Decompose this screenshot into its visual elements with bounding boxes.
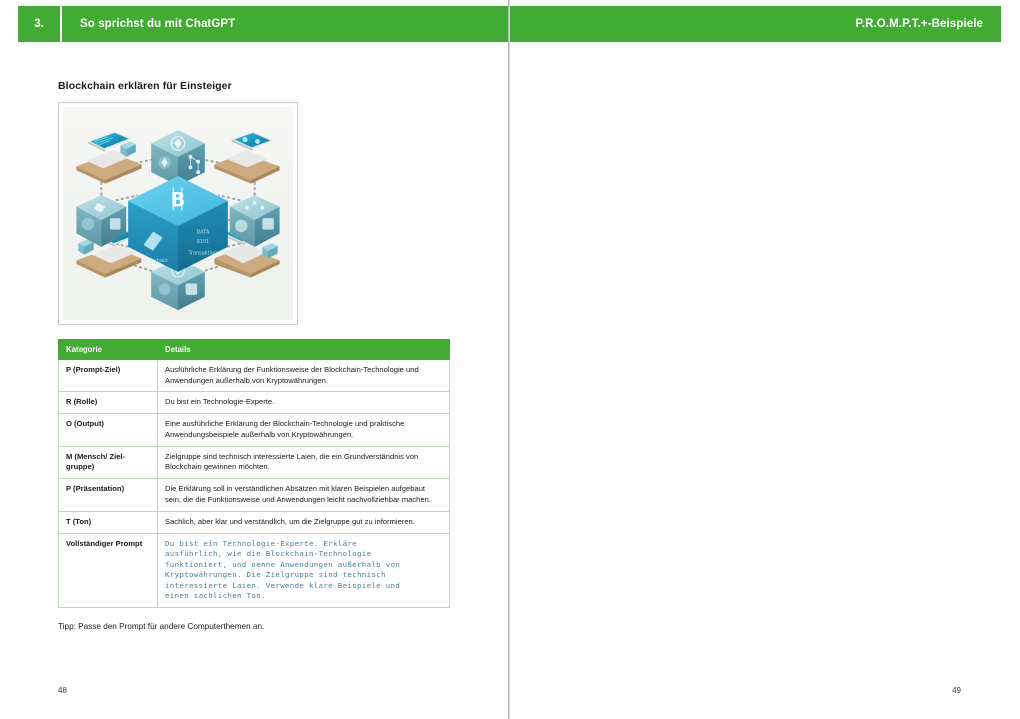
- section-header-title: P.R.O.M.P.T.+-Beispiele: [856, 18, 1001, 30]
- svg-text:0101: 0101: [197, 239, 210, 245]
- row-details: Die Erklärung soll in verständlichen Abs…: [158, 479, 450, 512]
- full-prompt-text: Du bist ein Technologie-Experte. Erkläre…: [158, 533, 450, 607]
- row-category: T (Ton): [59, 511, 158, 533]
- bitcoin-symbol: B: [171, 188, 186, 212]
- table-row: T (Ton) Sachlich, aber klar und verständ…: [59, 511, 450, 533]
- running-header-left: 3. So sprichst du mit ChatGPT: [18, 6, 508, 42]
- column-header-details: Details: [158, 339, 450, 359]
- table-row: O (Output) Eine ausführliche Erklärung d…: [59, 414, 450, 447]
- row-category: O (Output): [59, 414, 158, 447]
- table-row: P (Präsentation) Die Erklärung soll in v…: [59, 479, 450, 512]
- row-category: R (Rolle): [59, 392, 158, 414]
- figure-blockchain: B Blockchain DATA 0101 Transaktion: [58, 102, 298, 325]
- row-details: Ausführliche Erklärung der Funktionsweis…: [158, 359, 450, 392]
- chapter-title: So sprichst du mit ChatGPT: [62, 18, 235, 30]
- svg-text:Transaktion: Transaktion: [188, 251, 218, 257]
- row-category: Vollständiger Prompt: [59, 533, 158, 607]
- row-category: M (Mensch/ Ziel-gruppe): [59, 446, 158, 479]
- svg-text:Blockchain: Blockchain: [141, 258, 168, 264]
- chapter-number: 3.: [18, 6, 62, 42]
- column-header-kategorie: Kategorie: [59, 339, 158, 359]
- row-details: Sachlich, aber klar und verständlich, um…: [158, 511, 450, 533]
- running-header-right: P.R.O.M.P.T.+-Beispiele: [510, 6, 1001, 42]
- row-category: P (Prompt-Ziel): [59, 359, 158, 392]
- page-number-right: 49: [952, 686, 961, 695]
- row-details: Zielgruppe sind technisch interessierte …: [158, 446, 450, 479]
- table-row: P (Prompt-Ziel) Ausführliche Erklärung d…: [59, 359, 450, 392]
- table-row: R (Rolle) Du bist ein Technologie-Expert…: [59, 392, 450, 414]
- row-details: Du bist ein Technologie-Experte.: [158, 392, 450, 414]
- table-row: M (Mensch/ Ziel-gruppe) Zielgruppe sind …: [59, 446, 450, 479]
- blockchain-network-isometric-illustration: B Blockchain DATA 0101 Transaktion: [63, 107, 293, 320]
- prompt-table-blockchain: Kategorie Details P (Prompt-Ziel) Ausfüh…: [58, 339, 450, 608]
- table-header-row: Kategorie Details: [59, 339, 450, 359]
- book-spread: 3. So sprichst du mit ChatGPT Blockchain…: [0, 0, 1020, 719]
- table-row-full-prompt: Vollständiger Prompt Du bist ein Technol…: [59, 533, 450, 607]
- page-left-content: Blockchain erklären für Einsteiger: [58, 80, 458, 719]
- row-details: Eine ausführliche Erklärung der Blockcha…: [158, 414, 450, 447]
- page-left: 3. So sprichst du mit ChatGPT Blockchain…: [0, 0, 509, 719]
- page-right: P.R.O.M.P.T.+-Beispiele Filmkritik erste…: [509, 0, 1019, 719]
- section-title-blockchain: Blockchain erklären für Einsteiger: [58, 80, 458, 92]
- row-category: P (Präsentation): [59, 479, 158, 512]
- tip-text-left: Tipp: Passe den Prompt für andere Comput…: [58, 621, 450, 633]
- page-number-left: 48: [58, 686, 67, 695]
- svg-text:DATA: DATA: [197, 230, 210, 236]
